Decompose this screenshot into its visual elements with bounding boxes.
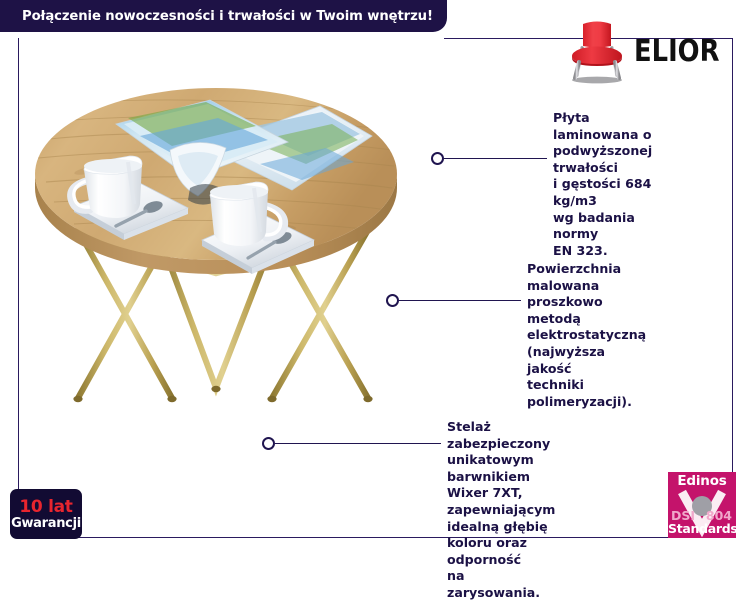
callout-powder-coating-marker[interactable] (386, 294, 399, 307)
warranty-badge: 10 lat Gwarancji (10, 489, 82, 539)
brand-logo: ELIOR (566, 16, 726, 86)
edinos-standards-label: Standards (668, 521, 736, 536)
callout-laminate-marker[interactable] (431, 152, 444, 165)
callout-frame-dye-text: Stelaż zabezpieczony unikatowym barwniki… (447, 419, 555, 602)
callout-laminate-leader (444, 158, 547, 159)
callout-laminate-text: Płyta laminowana o podwyższonej trwałośc… (553, 110, 652, 259)
callout-powder-coating-leader (399, 300, 521, 301)
header-banner: Połączenie nowoczesności i trwałości w T… (0, 0, 447, 32)
callout-frame-dye-leader (275, 443, 441, 444)
callout-powder-coating-text: Powierzchnia malowana proszkowo metodą e… (527, 261, 646, 410)
red-chair-icon (566, 18, 628, 84)
product-infographic: Połączenie nowoczesności i trwałości w T… (0, 0, 750, 550)
page-title: Połączenie nowoczesności i trwałości w T… (0, 9, 433, 24)
frame-top-mask (19, 30, 444, 46)
edinos-standards-badge: Edinos DSI 804 Standards (668, 472, 736, 538)
warranty-label: Gwarancji (11, 516, 81, 531)
warranty-years: 10 lat (19, 498, 72, 516)
callout-frame-dye-marker[interactable] (262, 437, 275, 450)
brand-name: ELIOR (634, 34, 719, 69)
